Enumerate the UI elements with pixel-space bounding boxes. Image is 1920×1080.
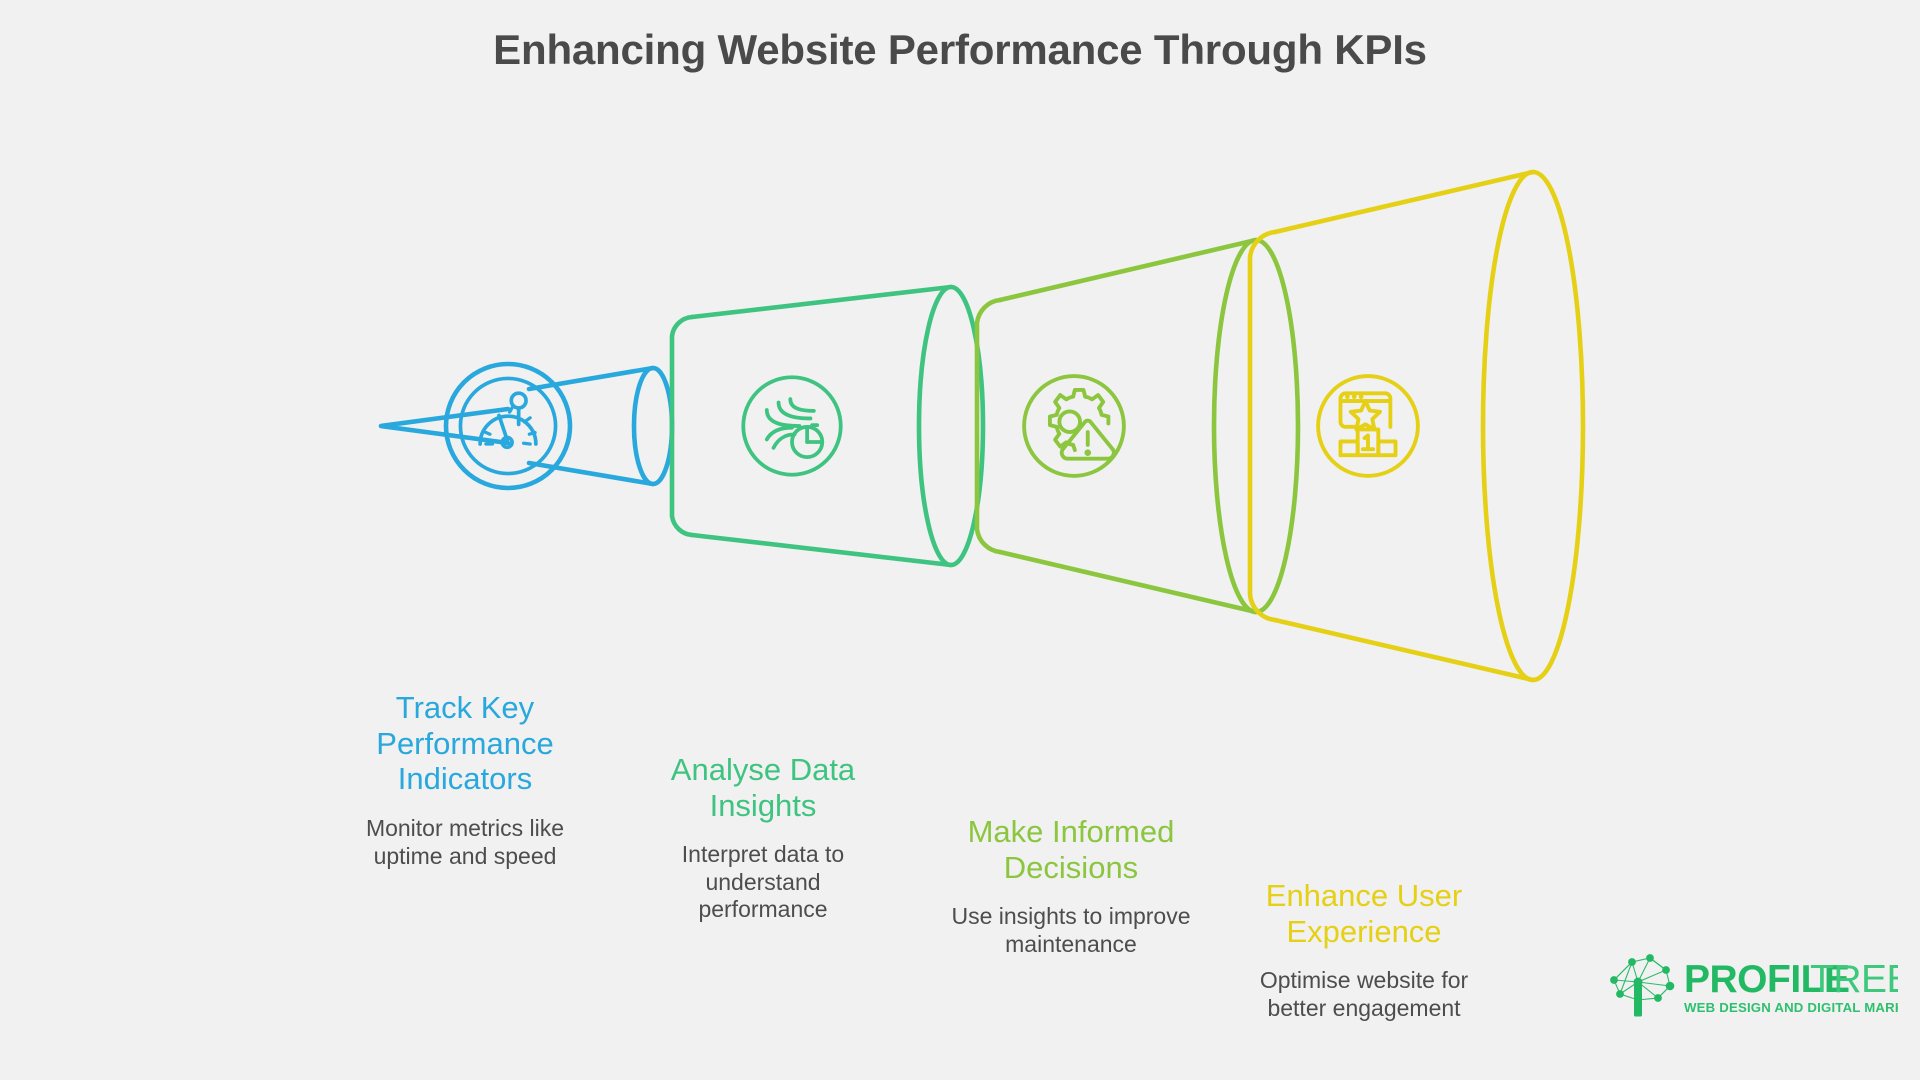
stage-description-3: Use insights to improve maintenance xyxy=(945,903,1197,958)
stage-description-2: Interpret data to understand performance xyxy=(648,841,878,924)
funnel-segment-4[interactable] xyxy=(1250,172,1583,680)
stage-title-2: Analyse Data Insights xyxy=(648,752,878,823)
infographic-canvas: Enhancing Website Performance Through KP… xyxy=(0,0,1920,1080)
browser-star-podium-icon xyxy=(1318,376,1418,476)
stage-caption-4: Enhance User Experience Optimise website… xyxy=(1238,878,1490,1022)
data-flow-pie-chart-icon xyxy=(743,377,840,474)
funnel-segment-2[interactable] xyxy=(672,287,983,565)
speedometer-icon xyxy=(460,378,555,473)
stage-title-4: Enhance User Experience xyxy=(1238,878,1490,949)
profiletree-logo[interactable]: PROFILE TREE WEB DESIGN AND DIGITAL MARK… xyxy=(1598,948,1898,1026)
stage-title-3: Make Informed Decisions xyxy=(945,814,1197,885)
stage-description-4: Optimise website for better engagement xyxy=(1238,967,1490,1022)
stage-caption-2: Analyse Data Insights Interpret data to … xyxy=(648,752,878,924)
stage-caption-1: Track Key Performance Indicators Monitor… xyxy=(350,690,580,870)
brand-tagline: WEB DESIGN AND DIGITAL MARKETING xyxy=(1684,1000,1898,1015)
gear-warning-icon xyxy=(1024,376,1124,476)
funnel-segment-3[interactable] xyxy=(977,240,1298,612)
stage-title-1: Track Key Performance Indicators xyxy=(350,690,580,797)
funnel-segment-1[interactable] xyxy=(381,364,672,488)
network-tree-icon xyxy=(1611,955,1674,1016)
page-title: Enhancing Website Performance Through KP… xyxy=(0,26,1920,74)
brand-name-light: TREE xyxy=(1810,958,1898,1001)
stage-description-1: Monitor metrics like uptime and speed xyxy=(350,815,580,870)
stage-caption-3: Make Informed Decisions Use insights to … xyxy=(945,814,1197,958)
